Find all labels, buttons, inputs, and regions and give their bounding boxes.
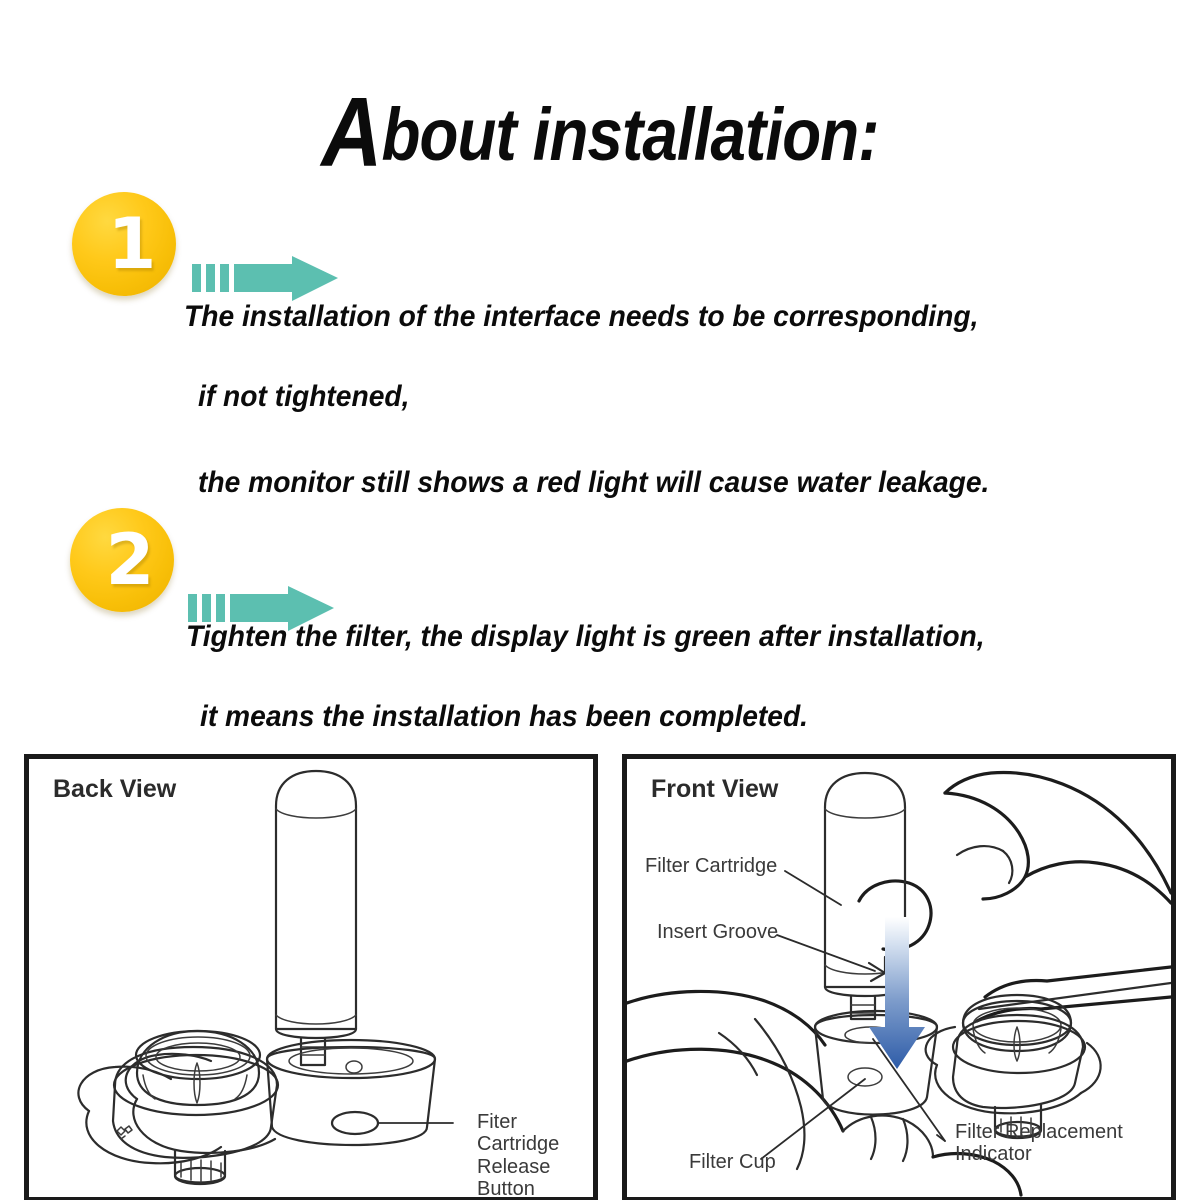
front-view-panel: Front View [622,754,1176,1200]
front-view-panel-title: Front View [651,775,778,804]
page-title-rest: bout installation: [381,93,878,176]
callout-filter-cartridge: Filter Cartridge [645,855,777,877]
page-title: About installation: [84,96,1116,172]
back-view-panel-title: Back View [53,775,176,804]
callout-insert-groove: Insert Groove [657,921,778,943]
callout-filter-cup: Filter Cup [689,1151,776,1173]
step-1-line-2: if not tightened, [198,382,409,412]
installation-instruction-page: About installation: 1 The installation o… [0,0,1200,1200]
step-badge-2-number: 2 [70,508,174,612]
step-1-line-1: The installation of the interface needs … [184,302,978,332]
page-title-initial: A [321,77,381,187]
step-2-line-1: Tighten the filter, the display light is… [186,622,985,652]
step-1-line-3: the monitor still shows a red light will… [198,468,989,498]
step-badge-2: 2 [70,508,174,612]
callout-filter-replacement-indicator: Filter Replacement Indicator [955,1121,1123,1166]
step-badge-1-number: 1 [72,192,176,296]
step-2-line-2: it means the installation has been compl… [200,702,808,732]
arrow-right-dashed-icon [192,256,338,302]
step-badge-1: 1 [72,192,176,296]
back-view-panel: Back View [24,754,598,1200]
callout-release-button: Fiter Cartridge Release Button [477,1111,593,1200]
